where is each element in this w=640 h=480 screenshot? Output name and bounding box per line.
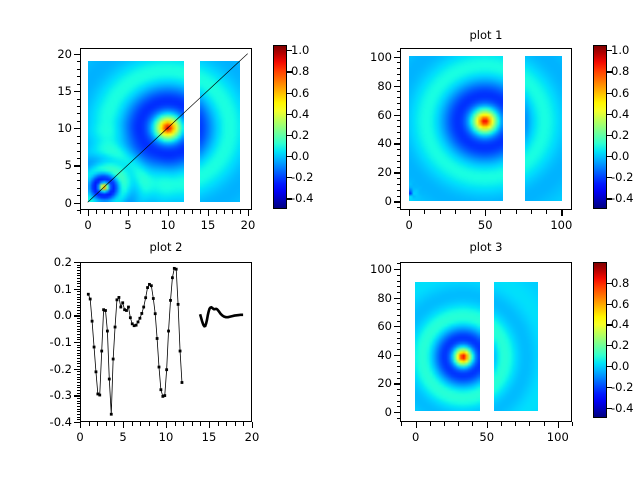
plot3-ytick-label: 80 [344,291,392,305]
plot3-colorbar-gradient [594,263,606,417]
plot1-yminor-tick [397,80,401,81]
plot3-yminor-tick [397,378,401,379]
plot3-colorbar-tick-label: 0.2 [611,338,629,352]
plot3-yminor-tick [397,292,401,293]
plot0-yminor-tick [77,84,81,85]
plot2-xminor-tick [97,422,98,426]
plot1-yminor-tick [397,74,401,75]
plot0-xminor-tick [112,210,113,214]
plot3-ytick-label: 20 [344,376,392,390]
plot3-yminor-tick [397,298,401,299]
plot3-colorbar-tick-label: -0.2 [611,380,633,394]
plot1-yminor-tick [397,155,401,156]
plot0-xminor-tick [168,210,169,214]
plot2-data-point [118,296,121,299]
plot1-xminor-tick [424,210,425,214]
plot3-yminor-tick [397,412,401,413]
plot3-yminor-tick [397,406,401,407]
plot3-image-patch [494,282,538,411]
plot0-ytick-label: 20 [24,47,72,61]
plot0-xminor-tick [248,210,249,214]
plot2-yminor-tick [77,350,81,351]
plot2-data-point [108,378,111,381]
plot1-yminor-tick [397,103,401,104]
plot0-yminor-tick [77,165,81,166]
plot2-axes-frame [80,262,252,422]
plot0-yminor-tick [77,136,81,137]
plot1-yminor-tick [397,115,401,116]
plot3-yminor-tick [397,315,401,316]
plot2-xminor-tick [80,422,81,426]
plot2-yminor-tick [77,377,81,378]
plot0-colorbar-tick-label: -0.4 [291,191,313,205]
plot0-yminor-tick [77,91,81,92]
plot3-yminor-tick [397,361,401,362]
plot0-colorbar [273,45,287,209]
plot3-yminor-tick [397,418,401,419]
plot0-colorbar-tick-label: 0.6 [291,86,309,100]
plot1-yminor-tick [397,68,401,69]
plot3-xminor-tick [430,422,431,426]
plot3-xminor-tick [529,422,530,426]
plot0-colorbar-gradient [274,46,286,208]
plot3-yminor-tick [397,389,401,390]
plot3-image-canvas [494,282,538,411]
plot1-colorbar-tick-label: 0.6 [611,86,629,100]
plot3-yminor-tick [397,281,401,282]
plot0-xtick-label: 10 [161,218,176,232]
plot2-yminor-tick [77,283,81,284]
plot3-colorbar [593,262,607,418]
plot3-yminor-tick [397,275,401,276]
plot2-yminor-tick [77,395,81,396]
plot1-yminor-tick [397,207,401,208]
plot1-axes-frame [400,48,572,210]
plot1-yminor-tick [397,138,401,139]
plot2-xminor-tick [209,422,210,426]
plot0-colorbar-tick-label: 0.0 [291,149,309,163]
plot2-data-point [142,306,145,309]
plot2-xminor-tick [114,422,115,426]
plot1-yminor-tick [397,86,401,87]
plot2-yminor-tick [77,385,81,386]
plot1-yminor-tick [397,149,401,150]
plot1-ytick-label: 0 [344,194,392,208]
plot3-colorbar-tick-label: 0.8 [611,276,629,290]
plot1-xminor-tick [500,210,501,214]
plot2-yminor-tick [77,313,81,314]
plot3-ytick-label: 60 [344,319,392,333]
plot3-xminor-tick [572,422,573,426]
plot2-yminor-tick [77,331,81,332]
plot1-yminor-tick [397,184,401,185]
plot2-xminor-tick [157,422,158,426]
plot2-ytick [74,262,80,263]
plot1-yminor-tick [397,62,401,63]
plot2-yminor-tick [77,379,81,380]
plot3-yminor-tick [397,343,401,344]
plot2-xtick-label: 20 [245,430,260,444]
plot2-data-point [110,413,113,416]
plot0-yminor-tick [77,143,81,144]
plot1-yminor-tick [397,190,401,191]
plot2-xminor-tick [149,422,150,426]
plot3-colorbar-tick-label: 0.0 [611,359,629,373]
plot3-xminor-tick [458,422,459,426]
plot1-yminor-tick [397,161,401,162]
plot2-ytick-label: -0.4 [24,415,72,429]
plot2-data-point [171,276,174,279]
plot3-xminor-tick [544,422,545,426]
plot3-xminor-tick [401,422,402,426]
plot2-data-point [165,368,168,371]
plot0-xminor-tick [88,210,89,214]
plot1-image-patch [409,56,503,201]
plot2-data-point [140,312,143,315]
plot2-yminor-tick [77,286,81,287]
plot1-yminor-tick [397,91,401,92]
plot2-xminor-tick [132,422,133,426]
plot1-ytick-label: 100 [344,50,392,64]
plot1-image-patch [525,56,562,201]
plot2-yminor-tick [77,371,81,372]
plot2-yminor-tick [77,323,81,324]
plot1-title: plot 1 [400,28,572,42]
plot2-data-point [114,326,117,329]
plot2-data-point [150,284,153,287]
plot3-image-canvas [415,282,480,411]
plot0-xminor-tick [160,210,161,214]
plot2-xminor-tick [183,422,184,426]
plot1-xtick-label: 0 [405,218,412,232]
plot3-xminor-tick [472,422,473,426]
plot2-xtick-label: 15 [202,430,217,444]
plot2-data-point [158,366,161,369]
plot0-image-canvas [200,61,240,202]
plot2-data-point [127,306,130,309]
plot0-yminor-tick [77,76,81,77]
plot3-xtick-label: 50 [479,430,494,444]
plot0-xtick-label: 20 [241,218,256,232]
plot3-xminor-tick [501,422,502,426]
plot2-yminor-tick [77,411,81,412]
plot0-yminor-tick [77,106,81,107]
plot2-data-point [106,330,109,333]
plot3-yminor-tick [397,332,401,333]
plot2-data-point [177,303,180,306]
plot3-yminor-tick [397,338,401,339]
plot1-yminor-tick [397,132,401,133]
plot2-xminor-tick [218,422,219,426]
plot0-xtick-label: 5 [124,218,131,232]
plot2-yminor-tick [77,273,81,274]
plot2-yminor-tick [77,361,81,362]
plot3-yminor-tick [397,372,401,373]
plot0-xminor-tick [80,210,81,214]
plot3-colorbar-tick-label: 0.6 [611,297,629,311]
plot2-yminor-tick [77,297,81,298]
plot2-data-point [144,296,147,299]
plot2-data-point [93,346,96,349]
plot2-yminor-tick [77,310,81,311]
plot0-xminor-tick [176,210,177,214]
plot2-data-point [169,299,172,302]
plot1-colorbar-tick-label: 0.0 [611,149,629,163]
plot2-xminor-tick [235,422,236,426]
plot0-image-canvas [88,61,184,202]
plot2-yminor-tick [77,345,81,346]
plot1-ytick-label: 60 [344,108,392,122]
plot2-yminor-tick [77,390,81,391]
plot3-yminor-tick [397,269,401,270]
plot0-colorbar-tick-label: 1.0 [291,43,309,57]
plot3-image-patch [415,282,480,411]
plot2-data-point [146,286,149,289]
plot1-xminor-tick [516,210,517,214]
plot1-xminor-tick [409,210,410,214]
plot1-yminor-tick [397,109,401,110]
plot2-yminor-tick [77,353,81,354]
plot1-colorbar-tick-label: 1.0 [611,43,629,57]
plot2-data-point [112,358,115,361]
plot0-image-patch [88,61,184,202]
plot0-xminor-tick [232,210,233,214]
plot3-xminor-tick [416,422,417,426]
plot2-yminor-tick [77,403,81,404]
plot1-colorbar-tick-label: 0.4 [611,107,629,121]
plot2-data-point [119,306,122,309]
plot0-yminor-tick [77,151,81,152]
plot2-data-point [116,298,119,301]
plot0-ytick-label: 10 [24,121,72,135]
plot2-ytick-label: 0.0 [24,308,72,322]
plot2-data-point [100,350,103,353]
plot0-yminor-tick [77,121,81,122]
plot1-yminor-tick [397,120,401,121]
plot2-data-point [125,309,128,312]
plot0-xtick-label: 0 [84,218,91,232]
plot2-yminor-tick [77,387,81,388]
plot2-yminor-tick [77,406,81,407]
plot2-data-point [129,316,132,319]
plot1-xminor-tick [485,210,486,214]
plot3-colorbar-tick-label: -0.4 [611,401,633,415]
plot2-xminor-tick [200,422,201,426]
plot2-yminor-tick [77,382,81,383]
plot2-xminor-tick [166,422,167,426]
plot1-yminor-tick [397,201,401,202]
plot3-yminor-tick [397,366,401,367]
plot2-data-point [156,337,159,340]
plot3-yminor-tick [397,321,401,322]
plot1-xminor-tick [546,210,547,214]
plot2-ytick-label: 0.1 [24,282,72,296]
plot0-yminor-tick [77,54,81,55]
plot2-yminor-tick [77,401,81,402]
plot1-colorbar-tick-label: -0.2 [611,170,633,184]
plot2-ytick-label: -0.3 [24,388,72,402]
plot2-data-point [89,298,92,301]
plot0-xminor-tick [216,210,217,214]
plot3-yminor-tick [397,383,401,384]
plot2-yminor-tick [77,419,81,420]
plot0-xminor-tick [200,210,201,214]
plot2-data-point [175,268,178,271]
plot0-yminor-tick [77,128,81,129]
plot0-colorbar-tick-label: 0.8 [291,64,309,78]
plot3-yminor-tick [397,326,401,327]
plot1-ytick-label: 20 [344,165,392,179]
plot2-yminor-tick [77,422,81,423]
plot1-yminor-tick [397,172,401,173]
plot3-xtick-label: 100 [547,430,569,444]
plot0-xminor-tick [96,210,97,214]
plot2-series-line [200,307,243,326]
plot1-colorbar-tick-label: -0.4 [611,191,633,205]
plot3-xtick-label: 0 [412,430,419,444]
plot1-xminor-tick [455,210,456,214]
plot3-yminor-tick [397,303,401,304]
plot2-ytick-label: -0.2 [24,362,72,376]
plot3-xminor-tick [515,422,516,426]
plot0-image-patch [200,61,240,202]
plot2-yminor-tick [77,305,81,306]
plot1-yminor-tick [397,97,401,98]
plot2-data-point [98,394,101,397]
plot2-data-point [137,321,140,324]
plot2-data-point [121,301,124,304]
plot0-yminor-tick [77,195,81,196]
plot0-xminor-tick [128,210,129,214]
figure-canvas: 05101520051015201.00.80.60.40.20.0-0.2-0… [0,0,640,480]
plot2-data-point [104,309,107,312]
plot0-xtick-label: 15 [201,218,216,232]
plot3-colorbar-tick-label: 0.4 [611,317,629,331]
plot3-yminor-tick [397,395,401,396]
plot3-ytick-label: 100 [344,262,392,276]
plot0-yminor-tick [77,61,81,62]
plot2-data-point [95,370,98,373]
plot0-colorbar-tick-label: -0.2 [291,170,313,184]
plot2-xminor-tick [106,422,107,426]
plot1-xtick-label: 100 [550,218,572,232]
plot3-yminor-tick [397,286,401,287]
plot2-yminor-tick [77,337,81,338]
plot3-axes-frame [400,262,572,422]
plot2-yminor-tick [77,409,81,410]
plot0-colorbar-tick-label: 0.2 [291,128,309,142]
plot3-yminor-tick [397,401,401,402]
plot3-xminor-tick [558,422,559,426]
plot0-axes-frame [80,48,252,210]
plot3-yminor-tick [397,309,401,310]
plot0-yminor-tick [77,203,81,204]
plot0-yminor-tick [77,180,81,181]
plot2-yminor-tick [77,342,81,343]
plot2-yminor-tick [77,326,81,327]
plot2-line-layer [81,263,252,422]
plot2-yminor-tick [77,393,81,394]
plot0-xminor-tick [192,210,193,214]
plot0-yminor-tick [77,113,81,114]
plot2-data-point [91,320,94,323]
plot2-xminor-tick [252,422,253,426]
plot2-yminor-tick [77,270,81,271]
plot2-data-point [179,350,182,353]
plot2-yminor-tick [77,398,81,399]
plot2-yminor-tick [77,289,81,290]
plot1-xminor-tick [561,210,562,214]
plot2-yminor-tick [77,417,81,418]
plot2-data-point [87,293,90,296]
plot1-colorbar-tick-label: 0.8 [611,64,629,78]
plot2-data-point [152,297,155,300]
plot2-yminor-tick [77,363,81,364]
plot2-yminor-tick [77,355,81,356]
plot0-yminor-tick [77,158,81,159]
plot3-ytick-label: 0 [344,405,392,419]
plot2-xtick-label: 0 [76,430,83,444]
plot0-colorbar-tick-label: 0.4 [291,107,309,121]
plot2-yminor-tick [77,265,81,266]
plot0-xminor-tick [184,210,185,214]
plot2-yminor-tick [77,307,81,308]
plot2-yminor-tick [77,374,81,375]
plot1-xminor-tick [531,210,532,214]
plot1-ytick-label: 40 [344,136,392,150]
plot2-yminor-tick [77,299,81,300]
plot2-data-point [135,324,138,327]
plot2-data-point [154,312,157,315]
plot3-yminor-tick [397,263,401,264]
plot2-title: plot 2 [80,240,252,254]
plot0-ytick-label: 5 [24,158,72,172]
plot0-yminor-tick [77,69,81,70]
plot2-yminor-tick [77,281,81,282]
plot2-data-point [181,381,184,384]
plot2-yminor-tick [77,278,81,279]
plot0-yminor-tick [77,99,81,100]
plot1-image-canvas [409,56,503,201]
plot2-yminor-tick [77,369,81,370]
plot2-series-line [88,268,182,414]
plot1-colorbar-gradient [594,46,606,208]
plot1-yminor-tick [397,57,401,58]
plot2-yminor-tick [77,315,81,316]
plot2-yminor-tick [77,414,81,415]
plot2-xminor-tick [226,422,227,426]
plot0-xminor-tick [240,210,241,214]
plot2-xminor-tick [89,422,90,426]
plot2-yminor-tick [77,291,81,292]
plot2-yminor-tick [77,302,81,303]
plot2-yminor-tick [77,347,81,348]
plot2-data-point [139,317,142,320]
plot2-yminor-tick [77,366,81,367]
plot2-xminor-tick [243,422,244,426]
plot1-yminor-tick [397,126,401,127]
plot2-yminor-tick [77,267,81,268]
plot1-xminor-tick [440,210,441,214]
plot2-xminor-tick [192,422,193,426]
plot1-colorbar [593,45,607,209]
plot2-data-point [159,388,162,391]
plot0-xminor-tick [120,210,121,214]
plot2-yminor-tick [77,334,81,335]
plot2-yminor-tick [77,321,81,322]
plot0-yminor-tick [77,188,81,189]
plot2-ytick-label: -0.1 [24,335,72,349]
